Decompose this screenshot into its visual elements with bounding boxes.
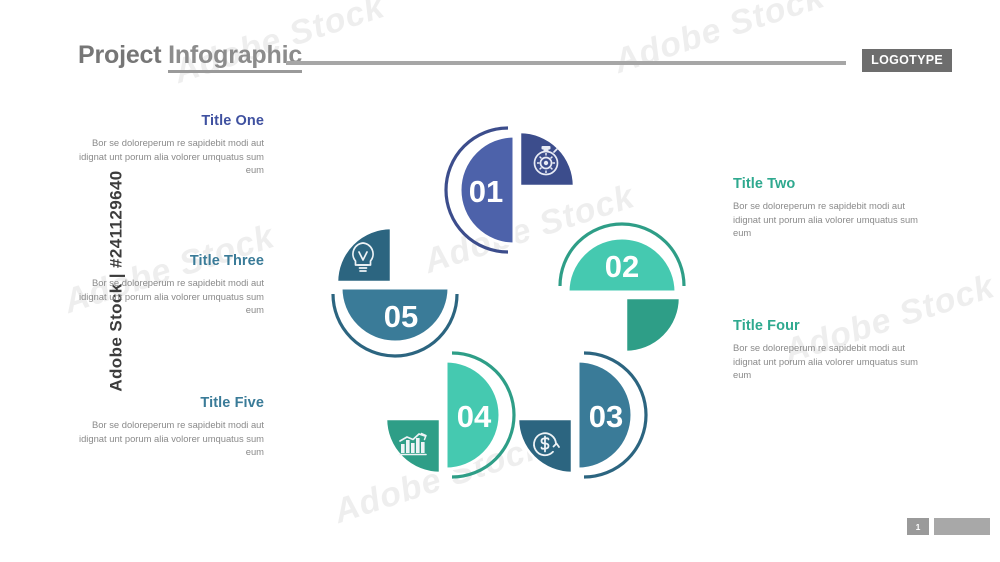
logotype-badge: LOGOTYPE <box>861 48 953 73</box>
segment-number-05: 05 <box>384 299 418 334</box>
item-title-two: Title Two <box>733 176 919 192</box>
item-title-three: Title Three <box>78 253 264 269</box>
infographic-slide: Adobe Stock Adobe Stock Adobe Stock Adob… <box>0 0 1000 562</box>
item-desc-four: Bor se doloreperum re sapidebit modi aut… <box>733 341 919 382</box>
circular-process-diagram: 05 01 <box>300 85 720 495</box>
page-title: Project Infographic <box>78 41 302 70</box>
segment-number-01: 01 <box>469 174 503 209</box>
header-divider <box>286 61 846 65</box>
segment-number-03: 03 <box>589 399 623 434</box>
watermark-tile: Adobe Stock <box>609 0 829 82</box>
segment-04: 04 <box>386 353 514 477</box>
item-title-one: Title One <box>78 113 264 129</box>
item-desc-two: Bor se doloreperum re sapidebit modi aut… <box>733 199 919 240</box>
page-title-underlined: Infographic <box>168 41 302 73</box>
item-title-five: Title Five <box>78 395 264 411</box>
page-title-plain: Project <box>78 41 168 69</box>
segment-02: 02 <box>560 224 684 352</box>
segment-03: 03 <box>518 353 646 477</box>
item-text-block-two: Title Two Bor se doloreperum re sapidebi… <box>733 176 919 240</box>
item-text-block-four: Title Four Bor se doloreperum re sapideb… <box>733 318 919 382</box>
page-number-badge: 1 <box>907 518 929 535</box>
footer-bar <box>934 518 990 535</box>
item-desc-three: Bor se doloreperum re sapidebit modi aut… <box>78 276 264 317</box>
segment-number-04: 04 <box>457 399 492 434</box>
segment-05: 05 <box>333 228 457 356</box>
item-text-block-three: Title Three Bor se doloreperum re sapide… <box>78 253 264 317</box>
item-desc-five: Bor se doloreperum re sapidebit modi aut… <box>78 418 264 459</box>
segment-number-02: 02 <box>605 249 639 284</box>
item-title-four: Title Four <box>733 318 919 334</box>
item-text-block-one: Title One Bor se doloreperum re sapidebi… <box>78 113 264 177</box>
segment-01: 01 <box>446 128 574 252</box>
item-desc-one: Bor se doloreperum re sapidebit modi aut… <box>78 136 264 177</box>
item-text-block-five: Title Five Bor se doloreperum re sapideb… <box>78 395 264 459</box>
